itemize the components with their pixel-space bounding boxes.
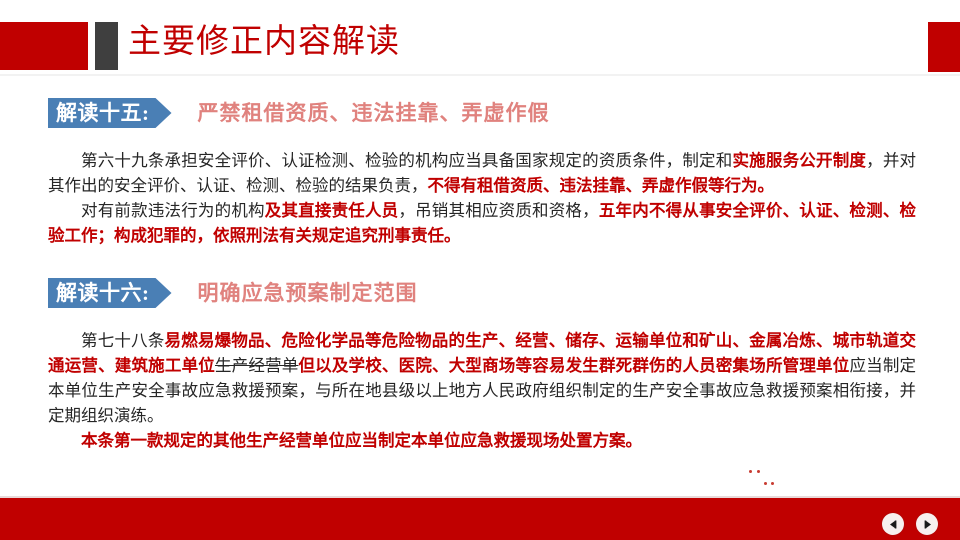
section-tag-chevron-1: 解读十五: (48, 98, 172, 128)
top-left-gray-block (95, 22, 118, 70)
top-left-red-block (0, 22, 88, 70)
arrow-left-icon[interactable] (882, 513, 904, 535)
slide-navigation (882, 513, 938, 535)
text-run: 及其直接责任人员 (265, 201, 399, 220)
text-run: 生产经营单 (215, 356, 298, 375)
text-run: 但以及学校、医院、大型商场等容易发生群死群伤的人员密集场所管理单位 (298, 356, 849, 375)
text-run: 对有前款违法行为的机构 (81, 201, 265, 220)
paragraph: 第七十八条易燃易爆物品、危险化学品等危险物品的生产、经营、储存、运输单位和矿山、… (48, 328, 916, 428)
page-title: 主要修正内容解读 (128, 20, 400, 64)
section-body-2: 第七十八条易燃易爆物品、危险化学品等危险物品的生产、经营、储存、运输单位和矿山、… (48, 328, 916, 453)
paragraph: 对有前款违法行为的机构及其直接责任人员，吊销其相应资质和资格，五年内不得从事安全… (48, 198, 916, 248)
paragraph: 第六十九条承担安全评价、认证检测、检验的机构应当具备国家规定的资质条件，制定和实… (48, 148, 916, 198)
text-run: 本条第一款规定的其他生产经营单位应当制定本单位应急救援现场处置方案。 (81, 431, 642, 450)
section-tag-label-2: 解读十六: (56, 278, 150, 308)
wechat-icon (744, 464, 778, 492)
section-header-2: 解读十六: 明确应急预案制定范围 (48, 278, 418, 308)
text-run: 实施服务公开制度 (732, 151, 866, 170)
section-tag-label-1: 解读十五: (56, 98, 150, 128)
section-body-1: 第六十九条承担安全评价、认证检测、检验的机构应当具备国家规定的资质条件，制定和实… (48, 148, 916, 248)
text-run: 不得有租借资质、违法挂靠、弄虚作假等行为。 (428, 176, 775, 195)
section-header-1: 解读十五: 严禁租借资质、违法挂靠、弄虚作假 (48, 98, 550, 128)
bottom-red-bar (0, 498, 960, 540)
section-subtitle-2: 明确应急预案制定范围 (198, 278, 418, 308)
text-run: ，吊销其相应资质和资格， (398, 201, 598, 220)
text-run: 第六十九条承担安全评价、认证检测、检验的机构应当具备国家规定的资质条件，制定和 (81, 151, 732, 170)
brand-watermark: 每日安全生产 (744, 460, 942, 496)
slide-canvas: 主要修正内容解读 解读十五: 严禁租借资质、违法挂靠、弄虚作假 第六十九条承担安… (0, 0, 960, 540)
top-right-red-block (928, 22, 960, 72)
section-tag-chevron-2: 解读十六: (48, 278, 172, 308)
brand-name: 每日安全生产 (786, 463, 942, 493)
arrow-right-icon[interactable] (916, 513, 938, 535)
section-subtitle-1: 严禁租借资质、违法挂靠、弄虚作假 (198, 98, 550, 128)
text-run: 第七十八条 (81, 331, 165, 350)
paragraph: 本条第一款规定的其他生产经营单位应当制定本单位应急救援现场处置方案。 (48, 428, 916, 453)
title-divider (0, 74, 960, 76)
